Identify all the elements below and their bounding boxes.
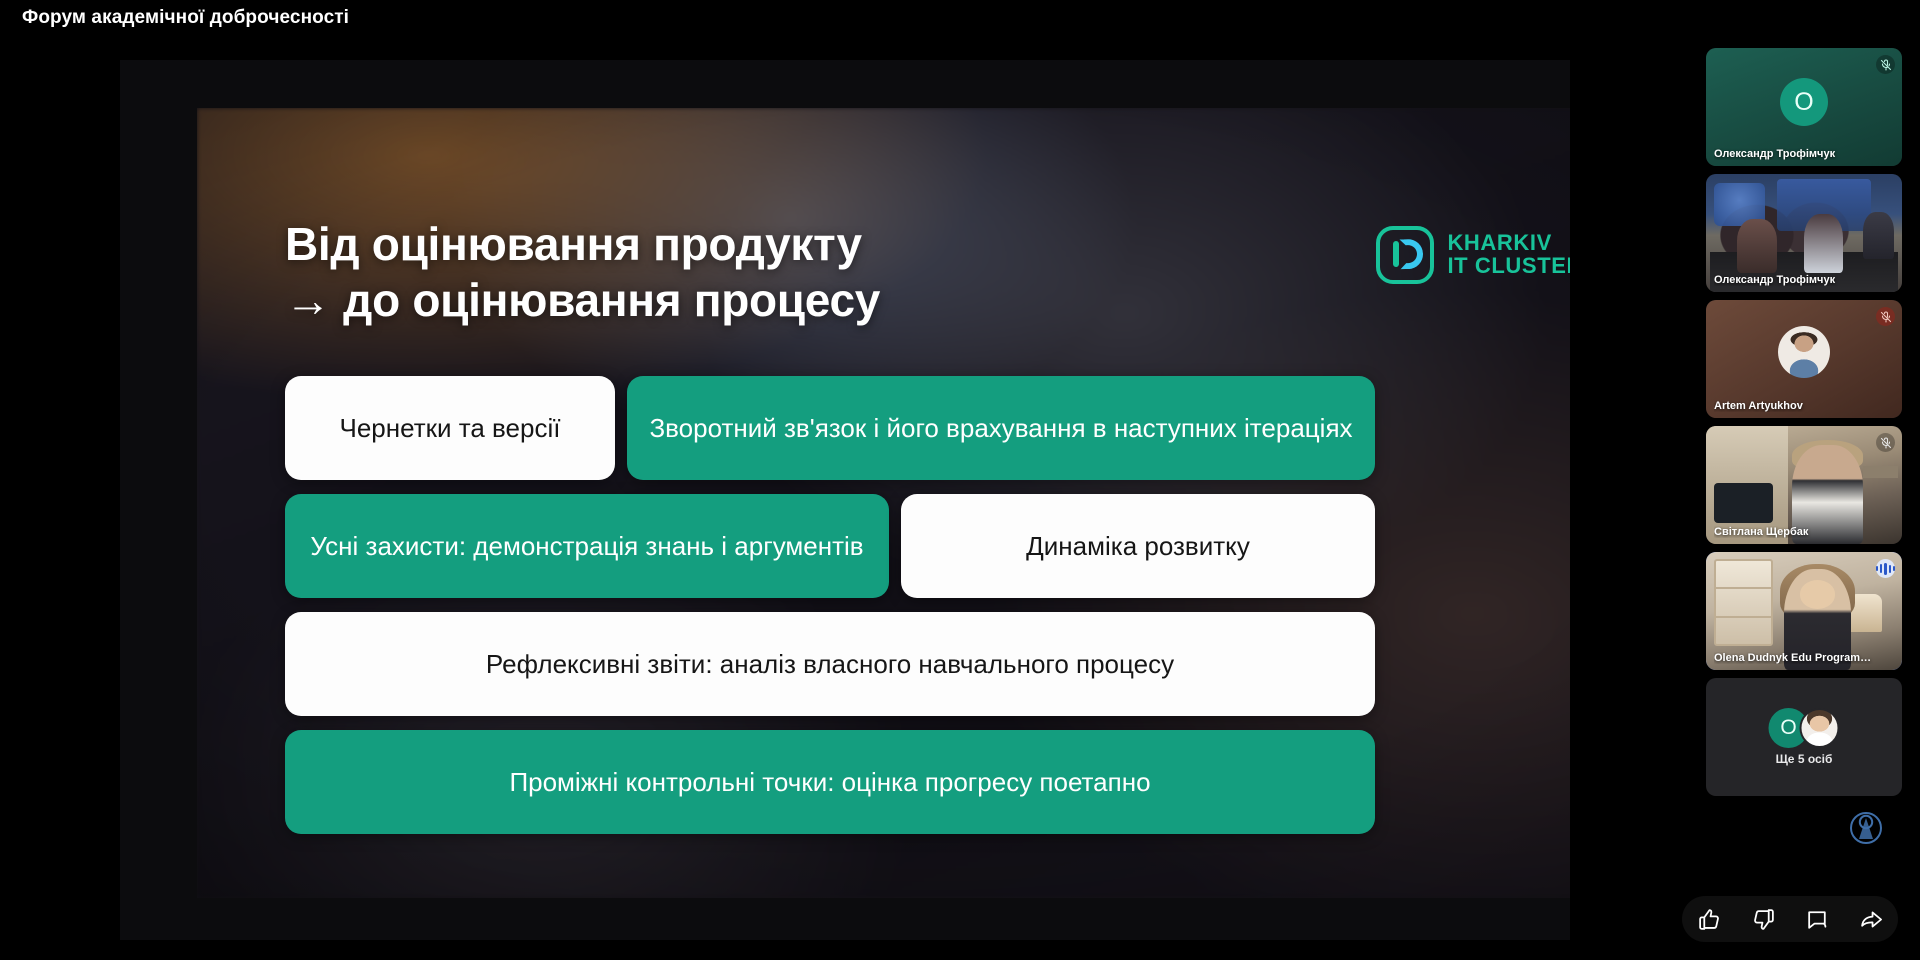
window-title-bar: Форум академічної доброчесності — [0, 0, 1920, 36]
comment-icon[interactable] — [1804, 906, 1830, 932]
page-title: Форум академічної доброчесності — [22, 7, 349, 29]
participant-rail[interactable]: O Олександр Трофімчук Олександр Трофімчу… — [1706, 48, 1902, 804]
participant-tile[interactable]: O Олександр Трофімчук — [1706, 48, 1902, 166]
slide-box-reflective-reports: Рефлексивні звіти: аналіз власного навча… — [285, 612, 1375, 716]
slide-headline-line-2: → до оцінювання процесу — [285, 272, 1085, 328]
meeting-stage: Від оцінювання продукту → до оцінювання … — [0, 36, 1920, 960]
slide-headline-line-1: Від оцінювання продукту — [285, 218, 862, 270]
participant-name: Olena Dudnyk Edu Program… — [1714, 652, 1876, 664]
more-participants-label: Ще 5 осіб — [1706, 752, 1902, 766]
kharkiv-it-cluster-mark-icon — [1376, 226, 1434, 284]
slide-box-oral-defense: Усні захисти: демонстрація знань і аргум… — [285, 494, 889, 598]
screen-share-frame[interactable]: Від оцінювання продукту → до оцінювання … — [120, 60, 1570, 940]
left-gutter — [0, 36, 120, 960]
participant-tile[interactable]: Світлана Щербак — [1706, 426, 1902, 544]
mic-muted-icon — [1876, 307, 1895, 326]
slide-box-row-2: Усні захисти: демонстрація знань і аргум… — [285, 494, 1375, 598]
avatar: O — [1780, 78, 1828, 126]
participant-name: Світлана Щербак — [1714, 526, 1876, 538]
share-icon[interactable] — [1858, 906, 1884, 932]
right-gutter — [1570, 36, 1690, 960]
logo-wordmark: KHARKIV IT CLUSTER — [1447, 232, 1570, 278]
participant-tile[interactable]: Artem Artyukhov — [1706, 300, 1902, 418]
avatar-photo — [1800, 708, 1840, 748]
participant-name: Олександр Трофімчук — [1714, 148, 1876, 160]
mic-muted-icon — [1876, 433, 1895, 452]
thumbs-down-icon[interactable] — [1750, 906, 1776, 932]
logo-bar-shape — [1393, 241, 1399, 267]
thumbs-up-icon[interactable] — [1696, 906, 1722, 932]
logo-word-line-2: IT CLUSTER — [1447, 255, 1570, 278]
slide-box-development-dynamics: Динаміка розвитку — [901, 494, 1375, 598]
slide-box-row-1: Чернетки та версії Зворотний зв'язок і й… — [285, 376, 1375, 480]
participant-name: Олександр Трофімчук — [1714, 274, 1876, 286]
mic-muted-icon — [1876, 55, 1895, 74]
participant-tile[interactable]: Олександр Трофімчук — [1706, 174, 1902, 292]
slide-box-feedback-iterations: Зворотний зв'язок і його врахування в на… — [627, 376, 1375, 480]
broadcast-watermark-icon — [1844, 806, 1888, 850]
overflow-avatars: O — [1769, 708, 1840, 748]
kharkiv-it-cluster-logo: KHARKIV IT CLUSTER — [1376, 226, 1570, 284]
speaking-indicator-icon — [1876, 559, 1895, 578]
reaction-toolbar[interactable] — [1682, 896, 1898, 942]
logo-c-shape — [1400, 239, 1424, 270]
avatar-photo — [1778, 326, 1830, 378]
slide-box-checkpoints: Проміжні контрольні точки: оцінка прогре… — [285, 730, 1375, 834]
participant-name: Artem Artyukhov — [1714, 400, 1876, 412]
slide-box-row-3: Рефлексивні звіти: аналіз власного навча… — [285, 612, 1375, 716]
slide-content-boxes: Чернетки та версії Зворотний зв'язок і й… — [285, 376, 1375, 848]
logo-word-line-1: KHARKIV — [1447, 232, 1570, 255]
slide-box-drafts-versions: Чернетки та версії — [285, 376, 615, 480]
presentation-slide: Від оцінювання продукту → до оцінювання … — [197, 108, 1570, 898]
slide-headline: Від оцінювання продукту → до оцінювання … — [285, 216, 1085, 328]
participant-tile-active-speaker[interactable]: Olena Dudnyk Edu Program… — [1706, 552, 1902, 670]
slide-box-row-4: Проміжні контрольні точки: оцінка прогре… — [285, 730, 1375, 834]
more-participants-tile[interactable]: O Ще 5 осіб — [1706, 678, 1902, 796]
